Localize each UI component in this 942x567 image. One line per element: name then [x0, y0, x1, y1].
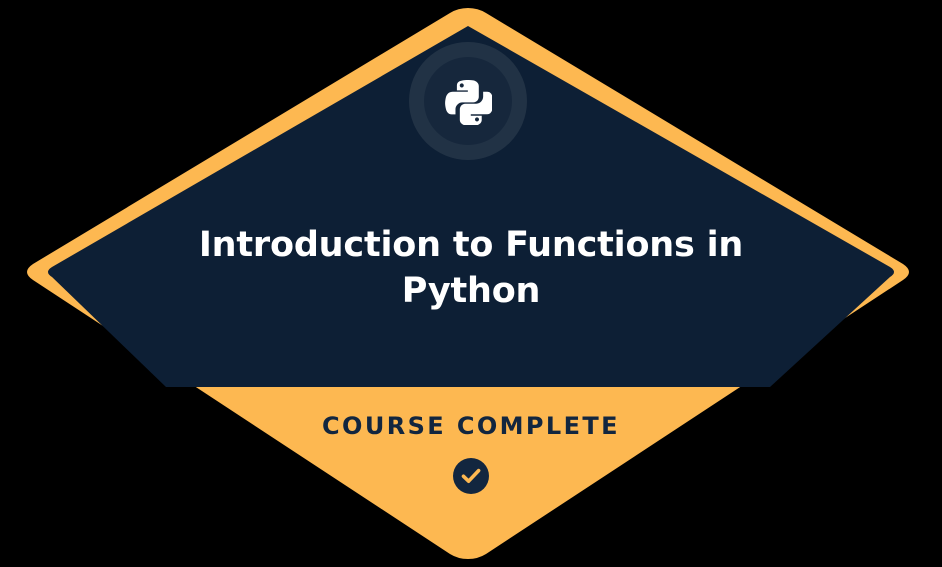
course-completion-badge: Introduction to Functions in Python COUR… [0, 0, 942, 567]
python-logo-icon [444, 77, 492, 125]
check-circle-icon [453, 458, 489, 494]
completion-status-block: COURSE COMPLETE [261, 409, 681, 494]
status-label: COURSE COMPLETE [261, 409, 681, 444]
course-title: Introduction to Functions in Python [161, 222, 781, 314]
python-emblem [406, 39, 530, 163]
